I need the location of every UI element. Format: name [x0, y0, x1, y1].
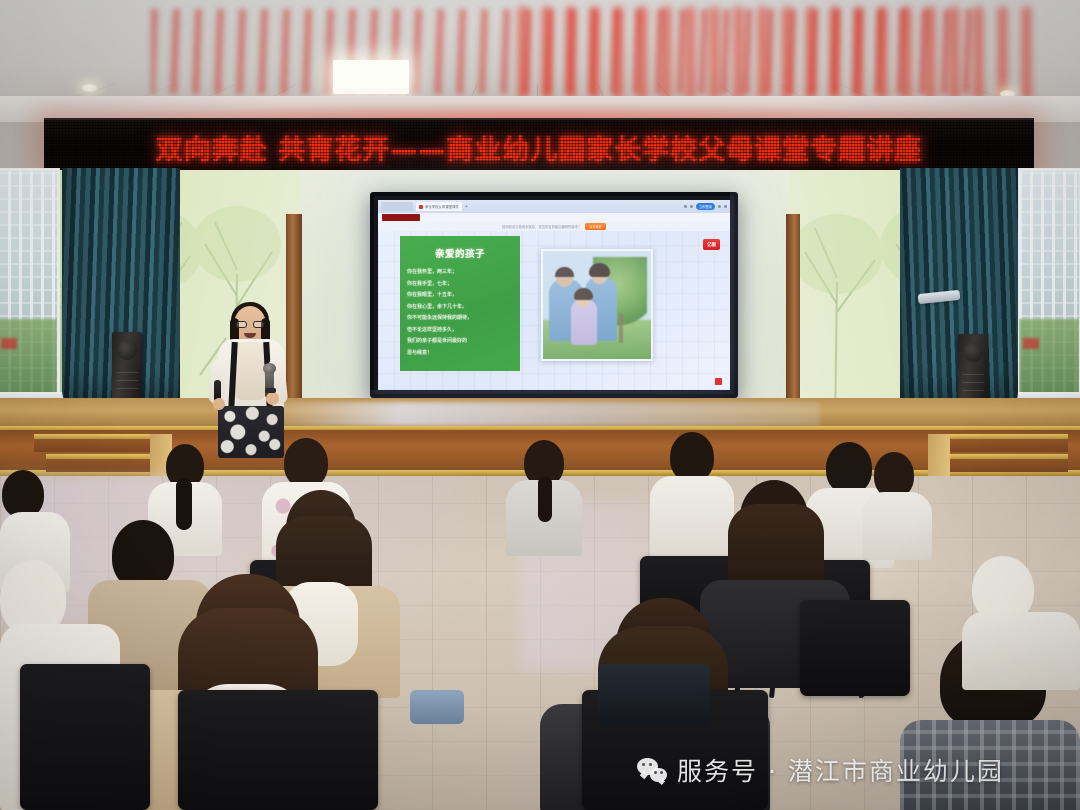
window-red-object-right	[1023, 338, 1039, 349]
glasses-icon	[236, 321, 264, 328]
photo-haze	[543, 251, 651, 359]
presenter-hand-left	[213, 398, 225, 410]
settings-icon[interactable]	[690, 205, 693, 208]
microphone-head	[263, 363, 276, 374]
browser-tab-label: 家长学校父母课堂课件	[425, 204, 459, 209]
floor-bag-blue	[410, 690, 464, 724]
maximize-icon[interactable]	[718, 205, 721, 208]
slide-family-photo	[541, 249, 653, 361]
chair[interactable]	[800, 600, 910, 696]
audience-head	[670, 432, 714, 482]
presenter-watch	[265, 388, 276, 393]
audience-member	[962, 556, 1080, 686]
account-login-label: 立即登录	[699, 204, 712, 209]
speaker-right	[958, 334, 988, 404]
ceiling-light-panel	[333, 60, 409, 94]
slide-line: 你在我眼里，十五年，	[407, 290, 513, 302]
led-banner-text: 双向奔赴 共育花开——商业幼儿园家长学校父母课堂专题讲座	[44, 120, 1034, 174]
wechat-icon	[637, 758, 667, 782]
ceiling-red-reflection-right	[518, 7, 1036, 99]
presenter-blouse	[234, 342, 266, 400]
channel-watermark: 服务号 · 潜江市商业幼儿园	[637, 752, 1004, 788]
stage-step-nose-right-upper	[950, 434, 1068, 439]
chair[interactable]	[20, 664, 150, 810]
window-foliage-right	[1019, 319, 1079, 395]
audience-ponytail	[538, 476, 552, 522]
projection-screen: 家长学校父母课堂课件 + 立即登录 检测到该文档尚未保存，是否恢复到最近编辑的版	[370, 192, 738, 398]
slide-title: 亲爱的孩子	[407, 246, 513, 260]
window-red-object-left	[1, 338, 17, 349]
tab-favicon	[419, 205, 423, 209]
slide-line: 恩与缘意！	[407, 348, 513, 360]
notification-text: 检测到该文档尚未保存，是否恢复到最近编辑的版本？	[502, 224, 581, 229]
audience-head	[2, 470, 44, 518]
browser-tab-bar: 家长学校父母课堂课件 + 立即登录	[378, 200, 730, 213]
floor-bag-black	[598, 664, 710, 726]
audience-body	[862, 492, 932, 560]
speaker-left	[112, 332, 142, 402]
slide-line: 你在我怀里，两三年；	[407, 267, 513, 279]
window-foliage-left	[0, 319, 57, 395]
audience-head	[284, 438, 328, 488]
stage-step-nose-right-lower	[936, 454, 1068, 459]
slide-line: 但不论这样坚持多久，	[407, 325, 513, 337]
downlight-left	[82, 84, 97, 92]
minimize-icon[interactable]	[684, 205, 687, 208]
projected-content: 家长学校父母课堂课件 + 立即登录 检测到该文档尚未保存，是否恢复到最近编辑的版	[378, 200, 730, 390]
slide-line: 我们的亲子都是世间最好的	[407, 336, 513, 348]
presenter-hand-right	[266, 392, 279, 405]
audience-body	[962, 612, 1080, 690]
slide-text-panel: 亲爱的孩子 你在我怀里，两三年； 你在我手里，七年； 你在我眼里，十五年， 你在…	[400, 236, 520, 371]
window-right	[1016, 168, 1080, 398]
account-login-button[interactable]: 立即登录	[696, 203, 715, 210]
stage-floor-reflection	[260, 402, 820, 426]
slide-watermark-badge: 亿图	[703, 239, 720, 250]
browser-address-bar[interactable]	[378, 213, 730, 222]
slide-line: 你不可能永远保持我的期待，	[407, 313, 513, 325]
lecture-hall-photo: 双向奔赴 共育花开——商业幼儿园家长学校父母课堂专题讲座	[0, 0, 1080, 810]
address-bar-redacted	[382, 214, 420, 221]
slide-line: 你在我手里，七年；	[407, 279, 513, 291]
close-icon[interactable]	[724, 205, 727, 208]
browser-tab-active[interactable]: 家长学校父母课堂课件	[416, 202, 462, 211]
slide-corner-badge	[715, 378, 722, 385]
new-tab-button[interactable]: +	[465, 204, 468, 210]
stage-step-nose-left-upper	[34, 434, 152, 439]
browser-toolbar-right: 立即登录	[684, 203, 727, 210]
stage-door-frame-right	[786, 214, 800, 410]
led-banner: 双向奔赴 共育花开——商业幼儿园家长学校父母课堂专题讲座	[44, 118, 1034, 176]
presenter	[208, 306, 294, 456]
window-left	[0, 168, 60, 398]
watermark-text: 服务号 · 潜江市商业幼儿园	[677, 752, 1004, 788]
browser-tab-inactive[interactable]	[381, 202, 413, 211]
slide-line: 你在我心里，余下几十年。	[407, 302, 513, 314]
slide-canvas: 亲爱的孩子 你在我怀里，两三年； 你在我手里，七年； 你在我眼里，十五年， 你在…	[378, 231, 730, 390]
chair[interactable]	[178, 690, 378, 810]
notification-action-button[interactable]: 点击恢复	[585, 223, 606, 230]
audience-member	[862, 452, 932, 556]
audience-member	[506, 440, 582, 552]
